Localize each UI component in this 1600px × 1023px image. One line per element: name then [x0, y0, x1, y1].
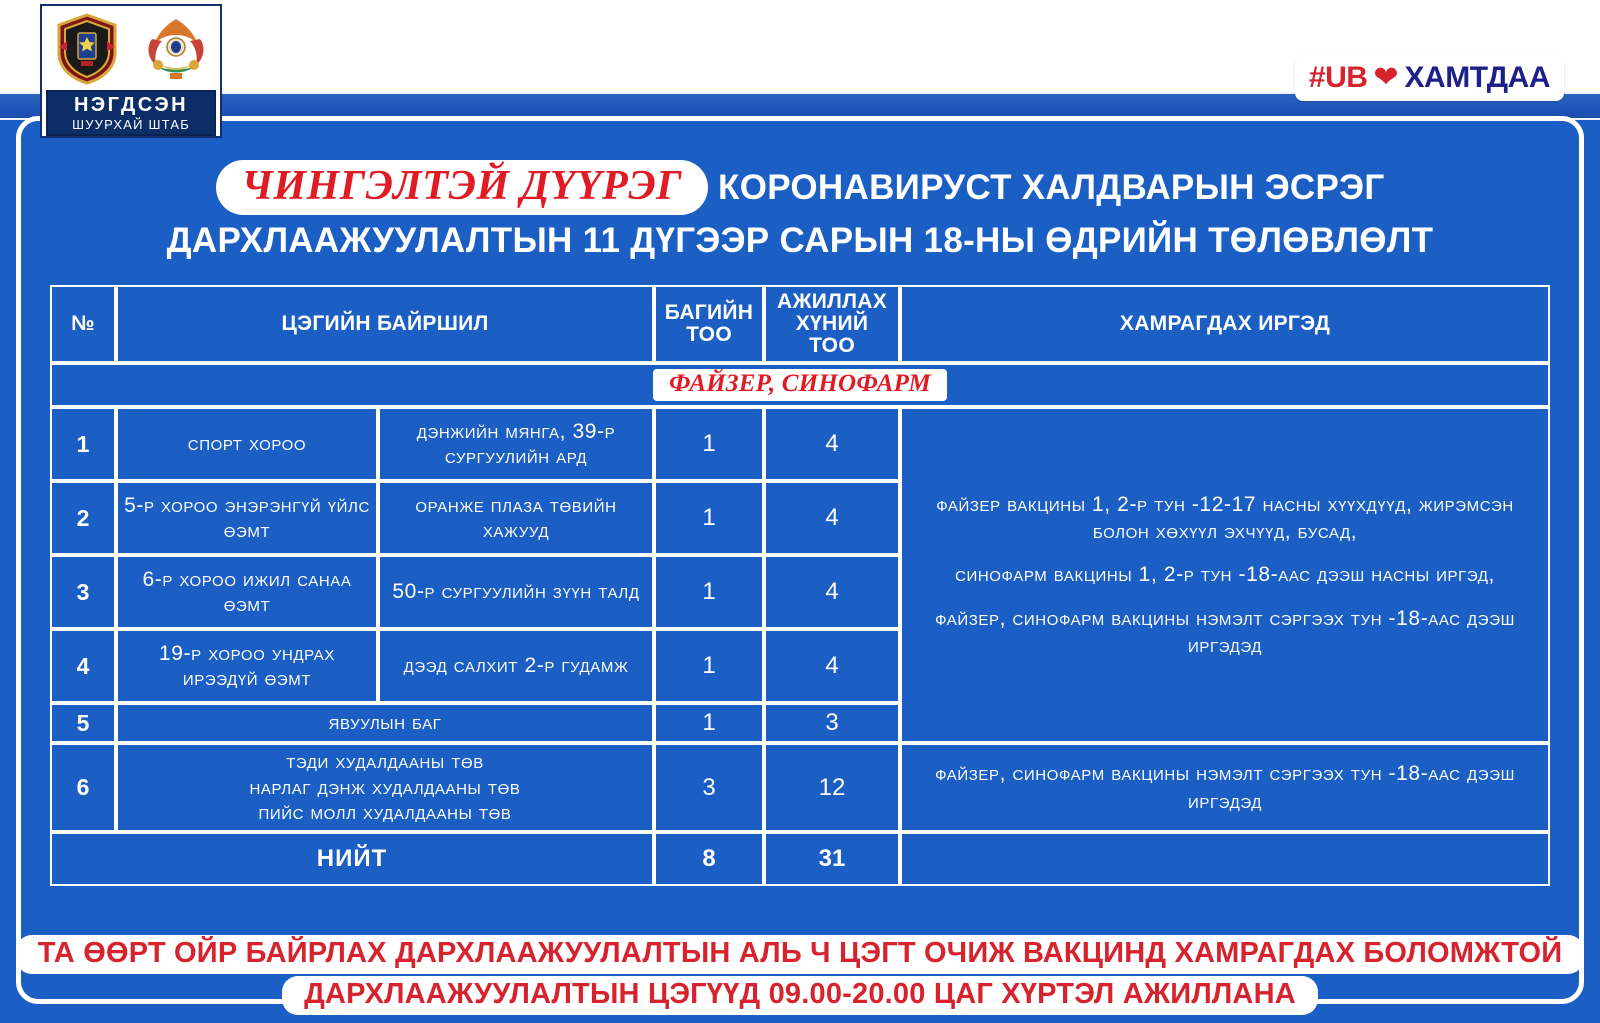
- row-location-line: ТЭДИ худалдааны төв: [124, 749, 646, 775]
- citizens-paragraph: Файзер, Синофарм вакцины нэмэлт сэргээх …: [908, 760, 1542, 815]
- title-line-1: ЧИНГЭЛТЭЙ ДҮҮРЭГ КОРОНАВИРУСТ ХАЛДВАРЫН …: [40, 160, 1560, 215]
- row-staff-count: 4: [764, 481, 900, 555]
- row-staff-count: 4: [764, 629, 900, 703]
- row-location-line: Нарлаг дэнж худалдааны төв: [124, 775, 646, 801]
- logo-caption-line1: НЭГДСЭН: [74, 95, 188, 115]
- row-index: 1: [50, 407, 116, 481]
- row-address: Дээд салхит 2-р гудамж: [378, 629, 654, 703]
- row-location: 6-р хороо Ижил санаа ӨЭМТ: [116, 555, 378, 629]
- vaccine-banner-cell: ФАЙЗЕР, СИНОФАРМ: [50, 363, 1550, 407]
- vaccination-schedule-table: № ЦЭГИЙН БАЙРШИЛ БАГИЙН ТОО АЖИЛЛАХ ХҮНИ…: [50, 285, 1550, 886]
- vaccine-banner-row: ФАЙЗЕР, СИНОФАРМ: [50, 363, 1550, 407]
- row-team-count: 1: [654, 629, 764, 703]
- citizens-cell-group-b: Файзер, Синофарм вакцины нэмэлт сэргээх …: [900, 743, 1550, 832]
- logo-caption-line2: ШУУРХАЙ ШТАБ: [72, 118, 190, 131]
- row-team-count: 1: [654, 555, 764, 629]
- row-address: 50-р сургуулийн зүүн талд: [378, 555, 654, 629]
- citizens-cell-group-a: Файзер вакцины 1, 2-р тун -12-17 насны х…: [900, 407, 1550, 743]
- row-address: Дэнжийн мянга, 39-р сургуулийн ард: [378, 407, 654, 481]
- citizens-paragraph: Файзер, Синофарм вакцины нэмэлт сэргээх …: [908, 605, 1542, 660]
- row-location-multiline: ТЭДИ худалдааны төв Нарлаг дэнж худалдаа…: [116, 743, 654, 832]
- row-location-line: Пийс молл худалдааны төв: [124, 800, 646, 826]
- table-header-row: № ЦЭГИЙН БАЙРШИЛ БАГИЙН ТОО АЖИЛЛАХ ХҮНИ…: [50, 285, 1550, 363]
- row-location: 5-р хороо Энэрэнгүй үйлс ӨЭМТ: [116, 481, 378, 555]
- header-team-count: БАГИЙН ТОО: [654, 285, 764, 363]
- header-staff-count: АЖИЛЛАХ ХҮНИЙ ТОО: [764, 285, 900, 363]
- row-team-count: 1: [654, 703, 764, 743]
- hashtag-badge: #UB ❤ ХАМТДАА: [1295, 55, 1564, 101]
- title-line-2: ДАРХЛААЖУУЛАЛТЫН 11 ДҮГЭЭР САРЫН 18-НЫ Ө…: [40, 221, 1560, 261]
- row-index: 3: [50, 555, 116, 629]
- mongolia-state-emblem-icon: [144, 13, 208, 85]
- citizens-paragraph: Синофарм вакцины 1, 2-р тун -18-аас дээш…: [908, 561, 1542, 588]
- row-team-count: 3: [654, 743, 764, 832]
- logo-caption: НЭГДСЭН ШУУРХАЙ ШТАБ: [46, 90, 216, 136]
- footer-line-1: ТА ӨӨРТ ОЙР БАЙРЛАХ ДАРХЛААЖУУЛАЛТЫН АЛЬ…: [16, 935, 1585, 974]
- header-no: №: [50, 285, 116, 363]
- heart-icon: ❤: [1373, 63, 1398, 93]
- district-name-pill: ЧИНГЭЛТЭЙ ДҮҮРЭГ: [216, 160, 709, 215]
- row-index: 2: [50, 481, 116, 555]
- row-team-count: 1: [654, 481, 764, 555]
- row-team-count: 1: [654, 407, 764, 481]
- row-location: Спорт хороо: [116, 407, 378, 481]
- row-location: 19-р хороо Ундрах ирээдүй ӨЭМТ: [116, 629, 378, 703]
- total-empty-cell: [900, 832, 1550, 886]
- total-team-count: 8: [654, 832, 764, 886]
- row-index: 5: [50, 703, 116, 743]
- header-location: ЦЭГИЙН БАЙРШИЛ: [116, 285, 654, 363]
- row-staff-count: 4: [764, 555, 900, 629]
- header-citizens: ХАМРАГДАХ ИРГЭД: [900, 285, 1550, 363]
- row-location: Явуулын баг: [116, 703, 654, 743]
- row-staff-count: 3: [764, 703, 900, 743]
- table-row: 1 Спорт хороо Дэнжийн мянга, 39-р сургуу…: [50, 407, 1550, 481]
- vaccine-banner: ФАЙЗЕР, СИНОФАРМ: [653, 369, 947, 401]
- footer-banner: ТА ӨӨРТ ОЙР БАЙРЛАХ ДАРХЛААЖУУЛАЛТЫН АЛЬ…: [0, 935, 1600, 1015]
- table-row: 6 ТЭДИ худалдааны төв Нарлаг дэнж худалд…: [50, 743, 1550, 832]
- row-staff-count: 12: [764, 743, 900, 832]
- page-title: ЧИНГЭЛТЭЙ ДҮҮРЭГ КОРОНАВИРУСТ ХАЛДВАРЫН …: [40, 160, 1560, 261]
- row-staff-count: 4: [764, 407, 900, 481]
- hashtag-word: ХАМТДАА: [1405, 61, 1550, 95]
- row-index: 4: [50, 629, 116, 703]
- row-index: 6: [50, 743, 116, 832]
- table-total-row: НИЙТ 8 31: [50, 832, 1550, 886]
- total-label: НИЙТ: [50, 832, 654, 886]
- emblem-row: [42, 6, 220, 92]
- footer-line-2: ДАРХЛААЖУУЛАЛТЫН ЦЭГҮҮД 09.00-20.00 ЦАГ …: [282, 976, 1318, 1015]
- total-staff-count: 31: [764, 832, 900, 886]
- hashtag-tag: #UB: [1309, 61, 1368, 95]
- citizens-paragraph: Файзер вакцины 1, 2-р тун -12-17 насны х…: [908, 491, 1542, 546]
- organization-logo-block: НЭГДСЭН ШУУРХАЙ ШТАБ: [40, 4, 222, 138]
- police-emblem-icon: [55, 13, 119, 85]
- title-subject: КОРОНАВИРУСТ ХАЛДВАРЫН ЭСРЭГ: [718, 168, 1384, 208]
- row-address: Оранже плаза төвийн хажууд: [378, 481, 654, 555]
